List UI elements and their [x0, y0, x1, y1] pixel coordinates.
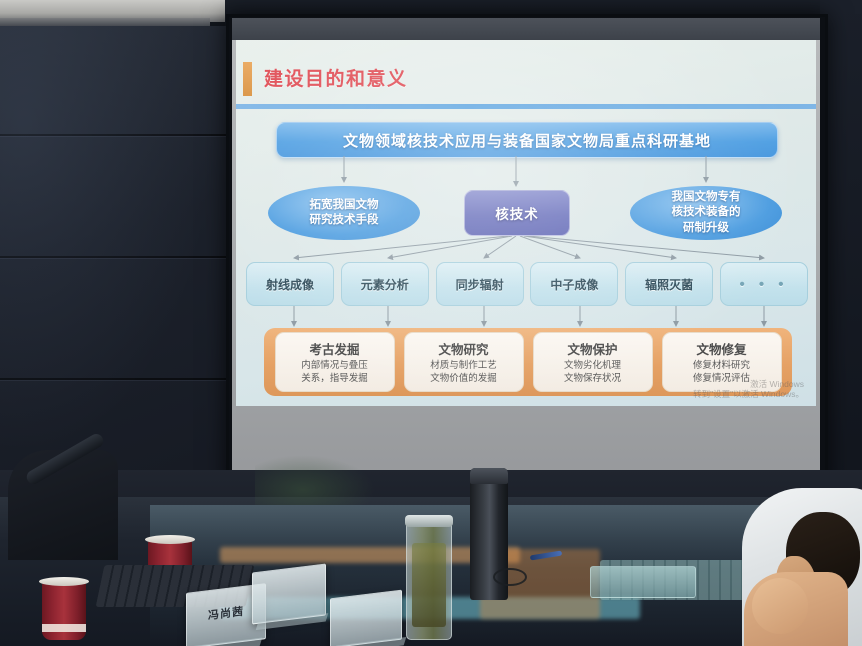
application-archaeology: 考古发掘 内部情况与叠压关系，指导发掘 — [275, 332, 395, 392]
wall-seam — [0, 134, 240, 136]
level2-goal-right: 我国文物专有核技术装备的研制升级 — [630, 186, 782, 240]
tech-box-neutron-imaging: 中子成像 — [530, 262, 618, 306]
title-divider-rule — [236, 104, 816, 109]
wall-panel-left — [0, 26, 240, 496]
windows-activation-watermark: 激活 Windows 转到"设置"以激活 Windows。 — [693, 379, 804, 400]
level3-technology-row: 射线成像 元素分析 同步辐射 中子成像 辐照灭菌 • • • — [246, 262, 808, 304]
thermos-cap — [470, 468, 508, 484]
application-archaeology-heading: 考古发掘 — [309, 339, 359, 358]
application-restoration-heading: 文物修复 — [696, 339, 746, 358]
tech-box-irradiation-sterilization: 辐照灭菌 — [625, 262, 713, 306]
slide-title: 建设目的和意义 — [264, 64, 408, 91]
wall-seam — [0, 256, 240, 258]
document-tray — [590, 566, 696, 598]
title-accent-bar — [243, 62, 252, 96]
eyeglasses — [493, 568, 527, 586]
level2-goal-right-label: 我国文物专有核技术装备的研制升级 — [672, 190, 741, 236]
tech-box-synchrotron-radiation: 同步辐射 — [436, 262, 524, 306]
application-research-heading: 文物研究 — [438, 339, 488, 358]
level2-goal-left: 拓宽我国文物研究技术手段 — [268, 186, 420, 240]
application-research: 文物研究 材质与制作工艺文物价值的发掘 — [404, 332, 524, 392]
watermark-line2: 转到"设置"以激活 Windows。 — [693, 389, 804, 400]
tumbler-cap — [405, 515, 453, 527]
glass-tea-tumbler — [406, 516, 452, 640]
presentation-slide: 建设目的和意义 文物领域核技术应用与装备国家文物局重点科研基地 — [236, 40, 816, 406]
application-preservation-detail: 文物劣化机理文物保存状况 — [564, 360, 621, 385]
tech-box-element-analysis: 元素分析 — [341, 262, 429, 306]
placard-stand — [334, 637, 407, 646]
watermark-line1: 激活 Windows — [693, 379, 804, 390]
wall-seam — [0, 378, 240, 380]
name-placard — [252, 563, 326, 624]
paper-cup-left — [42, 582, 86, 640]
level2-goal-left-label: 拓宽我国文物研究技术手段 — [310, 198, 379, 228]
placard-stand — [190, 638, 263, 646]
application-preservation-heading: 文物保护 — [567, 339, 617, 358]
tea-leaves — [412, 543, 446, 627]
application-preservation: 文物保护 文物劣化机理文物保存状况 — [533, 332, 653, 392]
application-research-detail: 材质与制作工艺文物价值的发掘 — [430, 360, 497, 385]
application-archaeology-detail: 内部情况与叠压关系，指导发掘 — [301, 360, 368, 385]
potted-plant — [255, 455, 375, 505]
attendee-hand — [752, 578, 808, 634]
cup-band — [42, 624, 86, 632]
level1-base-title: 文物领域核技术应用与装备国家文物局重点科研基地 — [276, 122, 778, 158]
tech-box-ellipsis: • • • — [720, 262, 808, 306]
tech-box-xray-imaging: 射线成像 — [246, 262, 334, 306]
level2-core-technology: 核技术 — [464, 190, 570, 236]
screen-top-valance — [232, 18, 820, 40]
name-placard — [330, 590, 402, 646]
conference-room-photo: 建设目的和意义 文物领域核技术应用与装备国家文物局重点科研基地 — [0, 0, 862, 646]
